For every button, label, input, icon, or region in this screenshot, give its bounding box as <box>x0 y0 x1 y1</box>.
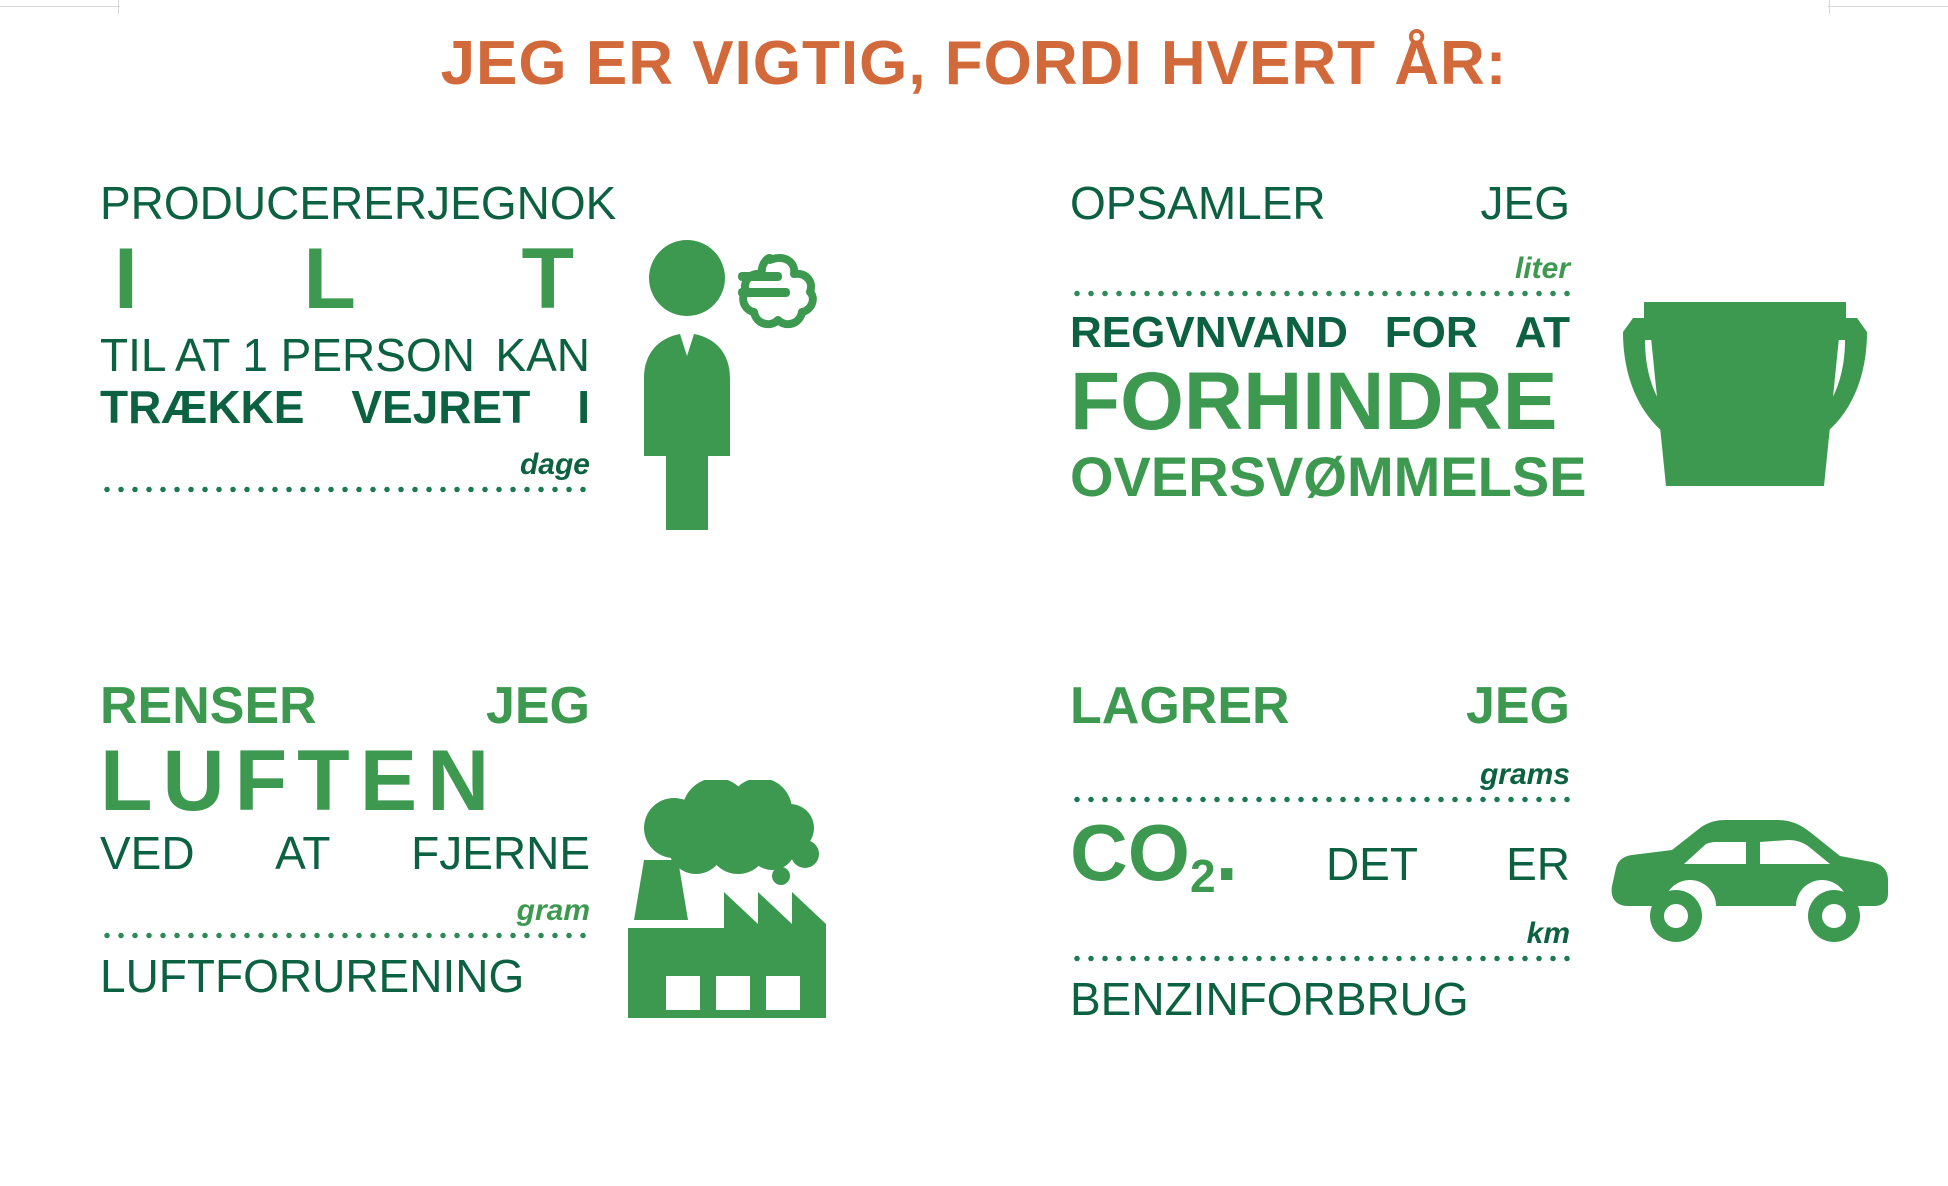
page-title: JEG ER VIGTIG, FORDI HVERT ÅR: <box>0 28 1948 99</box>
car-icon <box>1610 820 1890 950</box>
oxygen-line-4: TRÆKKE VEJRET I <box>100 384 590 430</box>
oxygen-word-jeg: JEG <box>427 180 516 226</box>
rainwater-text-column: OPSAMLER JEG liter REGVNVAND FOR AT FORH… <box>1070 180 1570 505</box>
co2-line-1: LAGRER JEG <box>1070 680 1570 732</box>
air-word-at: AT <box>275 830 330 876</box>
crop-mark-tick-left <box>118 0 119 14</box>
oxygen-headline-ilt: I L T <box>100 236 590 322</box>
air-footer-label: LUFTFORURENING <box>100 953 590 999</box>
factory-smoke-icon <box>620 780 840 1030</box>
rainwater-unit-label: liter <box>1070 252 1570 286</box>
rainwater-headline-forhindre: FORHINDRE <box>1070 361 1570 443</box>
co2-word-det: DET <box>1326 841 1418 887</box>
co2-formula-subscript: 2 <box>1190 850 1216 902</box>
panel-co2: LAGRER JEG grams CO2. DET ER km <box>1040 680 1920 1150</box>
rainwater-word-at: AT <box>1515 311 1570 355</box>
oxygen-icon-wrap <box>620 230 820 530</box>
crop-mark-tick-right <box>1829 0 1830 14</box>
oxygen-word-producerer: PRODUCERER <box>100 180 427 226</box>
co2-value-blank-line-bottom <box>1070 955 1570 962</box>
infographic-grid: PRODUCERER JEG NOK I L T TIL AT 1 PERSON… <box>0 160 1948 1170</box>
rainwater-line-3: OVERSVØMMELSE <box>1070 449 1570 505</box>
co2-word-jeg: JEG <box>1466 680 1570 732</box>
rainwater-line-1: OPSAMLER JEG <box>1070 180 1570 226</box>
co2-icon-wrap <box>1610 820 1890 950</box>
rainwater-line-2: REGVNVAND FOR AT <box>1070 311 1570 355</box>
crop-mark-rule-left <box>0 6 120 7</box>
oxygen-line-3: TIL AT 1 PERSON KAN <box>100 332 590 378</box>
panel-rainwater: OPSAMLER JEG liter REGVNVAND FOR AT FORH… <box>1040 180 1920 650</box>
air-text-column: RENSER JEG LUFTEN VED AT FJERNE gram LUF… <box>100 680 590 999</box>
oxygen-line-1: PRODUCERER JEG NOK <box>100 180 590 226</box>
oxygen-word-kan: KAN <box>495 332 590 378</box>
bucket-icon <box>1620 290 1870 500</box>
rainwater-value-blank-line <box>1070 290 1570 297</box>
rainwater-word-regvnvand: REGVNVAND <box>1070 311 1348 355</box>
oxygen-letter-t: T <box>521 236 574 322</box>
oxygen-letter-i: I <box>114 236 138 322</box>
rainwater-word-opsamler: OPSAMLER <box>1070 180 1326 226</box>
co2-value-blank-line-top <box>1070 796 1570 803</box>
crop-mark-rule-right <box>1828 6 1948 7</box>
rainwater-word-for: FOR <box>1385 311 1478 355</box>
oxygen-unit-label: dage <box>100 448 590 482</box>
co2-text-column: LAGRER JEG grams CO2. DET ER km <box>1070 680 1570 1022</box>
air-value-blank-line <box>100 932 590 939</box>
air-line-2: VED AT FJERNE <box>100 830 590 876</box>
person-breathing-icon <box>620 230 820 530</box>
oxygen-word-traekke: TRÆKKE <box>100 384 304 430</box>
oxygen-word-i: I <box>577 384 590 430</box>
co2-word-lagrer: LAGRER <box>1070 680 1290 732</box>
air-word-jeg: JEG <box>486 680 590 732</box>
panel-oxygen: PRODUCERER JEG NOK I L T TIL AT 1 PERSON… <box>60 180 900 650</box>
rainwater-icon-wrap <box>1620 290 1870 500</box>
co2-formula: CO <box>1070 808 1190 897</box>
co2-unit-label-top: grams <box>1070 758 1570 792</box>
air-headline-luften: LUFTEN <box>100 738 590 824</box>
co2-line-2: CO2. DET ER <box>1070 813 1570 899</box>
co2-unit-label-bottom: km <box>1070 917 1570 951</box>
oxygen-word-nok: NOK <box>517 180 617 226</box>
air-word-fjerne: FJERNE <box>411 830 590 876</box>
oxygen-value-blank-line <box>100 486 590 493</box>
air-line-1: RENSER JEG <box>100 680 590 732</box>
air-word-ved: VED <box>100 830 195 876</box>
co2-footer-label: BENZINFORBRUG <box>1070 976 1570 1022</box>
panel-air: RENSER JEG LUFTEN VED AT FJERNE gram LUF… <box>60 680 900 1150</box>
oxygen-letter-l: L <box>303 236 356 322</box>
rainwater-word-jeg: JEG <box>1481 180 1570 226</box>
air-word-renser: RENSER <box>100 680 317 732</box>
oxygen-phrase-til-at-1-person: TIL AT 1 PERSON <box>100 332 475 378</box>
oxygen-text-column: PRODUCERER JEG NOK I L T TIL AT 1 PERSON… <box>100 180 590 493</box>
air-icon-wrap <box>620 780 840 1030</box>
co2-word-er: ER <box>1506 841 1570 887</box>
co2-formula-period: . <box>1216 808 1238 897</box>
oxygen-word-vejret: VEJRET <box>351 384 530 430</box>
air-unit-label: gram <box>100 894 590 928</box>
